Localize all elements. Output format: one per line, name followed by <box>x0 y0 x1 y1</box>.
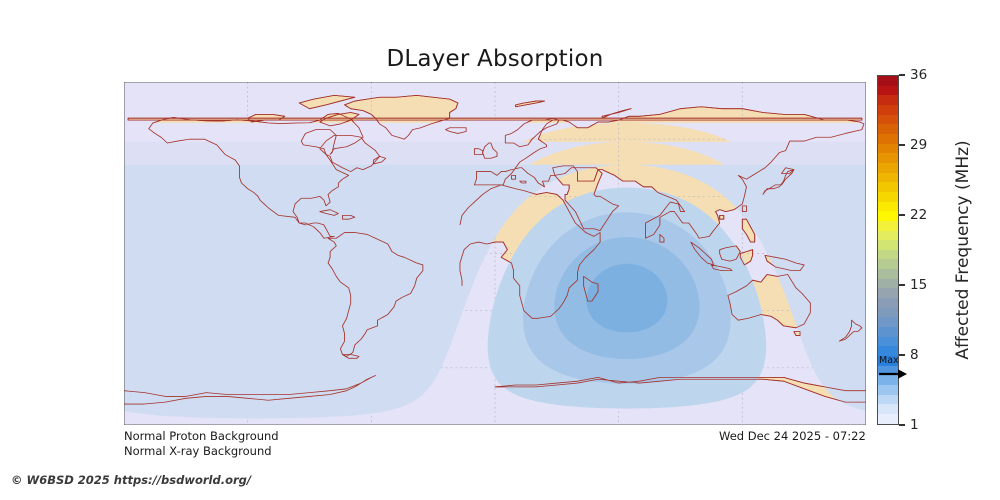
colorbar-tick-label: 36 <box>910 66 927 84</box>
colorbar-band <box>878 134 898 144</box>
landmass-hainan <box>720 215 724 219</box>
xray-background-status: Normal X-ray Background <box>124 444 279 459</box>
page-title-text: DLayer Absorption <box>386 46 603 72</box>
colorbar-band <box>878 298 898 308</box>
colorbar-band <box>878 308 898 318</box>
colorbar-band <box>878 375 898 385</box>
colorbar-band <box>878 259 898 269</box>
colorbar-band <box>878 95 898 105</box>
colorbar-band <box>878 269 898 279</box>
colorbar-band <box>878 115 898 125</box>
colorbar-band <box>878 153 898 163</box>
colorbar-band <box>878 337 898 347</box>
colorbar-band <box>878 279 898 289</box>
colorbar-band <box>878 366 898 376</box>
colorbar-tick-label: 8 <box>910 346 919 364</box>
status-notes: Normal Proton Background Normal X-ray Ba… <box>124 429 279 459</box>
colorbar-band <box>878 173 898 183</box>
page-title: DLayer Absorption <box>0 46 1000 72</box>
colorbar-band <box>878 202 898 212</box>
colorbar-band <box>878 105 898 115</box>
colorbar-band <box>878 182 898 192</box>
colorbar-band <box>878 288 898 298</box>
credit-line: © W6BSD 2025 https://bsdworld.org/ <box>11 473 251 487</box>
colorbar-tick-mark <box>899 284 905 286</box>
colorbar-band <box>878 240 898 250</box>
colorbar-band <box>878 250 898 260</box>
map-canvas <box>124 82 866 425</box>
colorbar-tick-label: 1 <box>910 416 919 434</box>
colorbar-tick-mark <box>899 214 905 216</box>
colorbar-band <box>878 231 898 241</box>
colorbar-axis-label: Affected Frequency (MHz) <box>951 75 975 425</box>
colorbar-band <box>878 211 898 221</box>
colorbar-band <box>878 346 898 356</box>
colorbar-band <box>878 76 898 86</box>
colorbar-tick-mark <box>899 74 905 76</box>
colorbar-tick-mark <box>899 424 905 426</box>
colorbar-band <box>878 414 898 424</box>
colorbar-band <box>878 163 898 173</box>
dlayer-absorption-plot: DLayer Absorption 3629221581 Max Affecte… <box>0 0 1000 500</box>
colorbar-band <box>878 395 898 405</box>
colorbar-tick-label: 22 <box>910 206 927 224</box>
colorbar-ticks: 3629221581 <box>899 75 959 425</box>
world-map <box>124 82 866 425</box>
colorbar-band <box>878 317 898 327</box>
colorbar-band <box>878 144 898 154</box>
colorbar-band <box>878 192 898 202</box>
colorbar-band <box>878 124 898 134</box>
colorbar-band <box>878 86 898 96</box>
colorbar-band <box>878 327 898 337</box>
colorbar-tick-mark <box>899 354 905 356</box>
proton-background-status: Normal Proton Background <box>124 429 279 444</box>
timestamp: Wed Dec 24 2025 - 07:22 <box>719 429 866 444</box>
colorbar-band <box>878 221 898 231</box>
colorbar <box>877 75 899 425</box>
colorbar-band <box>878 356 898 366</box>
colorbar-tick-mark <box>899 144 905 146</box>
colorbar-tick-label: 29 <box>910 136 927 154</box>
colorbar-band <box>878 385 898 395</box>
colorbar-tick-label: 15 <box>910 276 927 294</box>
colorbar-band <box>878 404 898 414</box>
